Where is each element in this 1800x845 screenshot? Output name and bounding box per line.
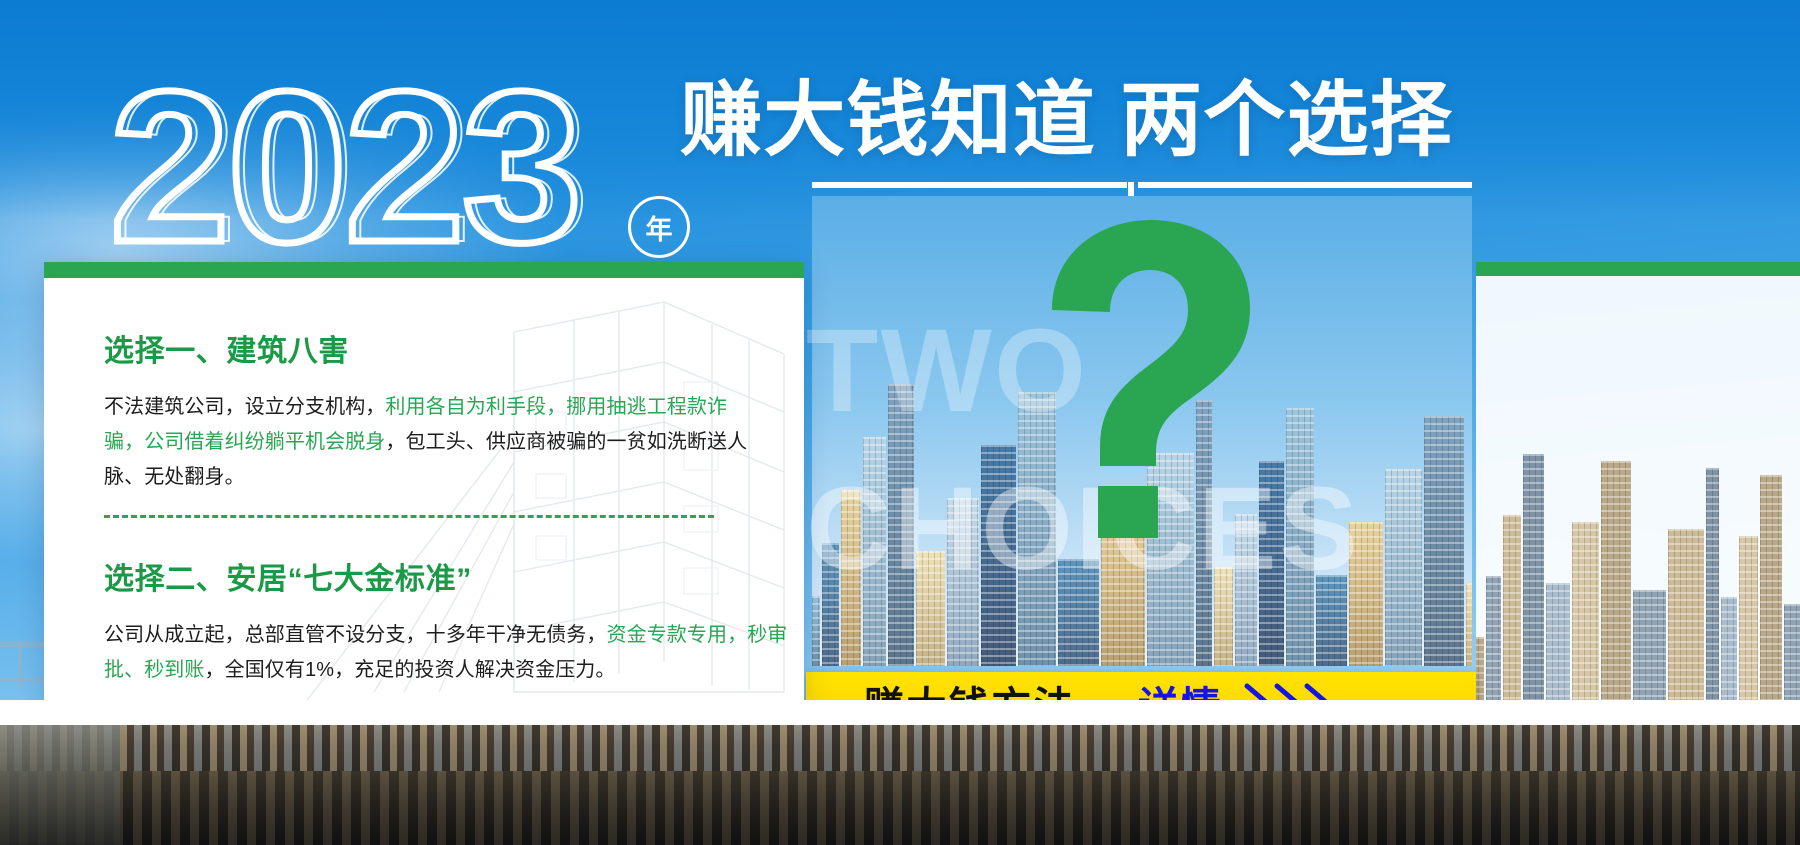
title-rule-left (812, 182, 1127, 188)
building (812, 596, 820, 666)
building (1466, 583, 1472, 666)
section-2-heading: 选择二、安居“七大金标准” (104, 554, 794, 598)
section-2-text-c: ，全国仅有1%，充足的投资人解决资金压力。 (205, 659, 616, 681)
card-top-accent (44, 262, 804, 278)
content-card: 选择一、建筑八害 不法建筑公司，设立分支机构，利用各自为利手段，挪用抽逃工程款诈… (44, 262, 804, 717)
section-1-body: 不法建筑公司，设立分支机构，利用各自为利手段，挪用抽逃工程款诈骗，公司借着纠纷躺… (104, 390, 762, 495)
right-panel-skyline (1476, 436, 1800, 717)
building (1523, 454, 1544, 717)
building (1760, 475, 1782, 717)
bottom-city-strip (0, 725, 1800, 845)
building (1572, 522, 1599, 717)
building (1668, 529, 1704, 717)
building (1601, 461, 1631, 717)
year-number-outline-thin: 2023 (118, 62, 698, 272)
building (1385, 469, 1422, 666)
building (1706, 468, 1719, 717)
page-title: 赚大钱知道 两个选择 (680, 78, 1453, 164)
right-accent-bar (1476, 262, 1800, 276)
building (1633, 590, 1666, 717)
year-badge: 年 (628, 196, 690, 258)
question-mark-icon (1030, 214, 1260, 544)
section-1-text-a: 不法建筑公司，设立分支机构， (104, 396, 385, 418)
section-1-heading: 选择一、建筑八害 (104, 326, 762, 370)
section-2-text-a: 公司从成立起，总部直管不设分支，十多年干净无债务， (104, 624, 607, 646)
card-base-white-strip (0, 700, 1800, 726)
building (1486, 576, 1501, 717)
bottom-water-reflection (0, 771, 1800, 845)
section-2-body: 公司从成立起，总部直管不设分支，十多年干净无债务，资金专款专用，秒审批、秒到账，… (104, 618, 794, 688)
building (1424, 416, 1464, 666)
right-white-panel (1476, 276, 1800, 717)
building (1546, 583, 1570, 717)
building (1739, 536, 1758, 717)
card-section-2: 选择二、安居“七大金标准” 公司从成立起，总部直管不设分支，十多年干净无债务，资… (104, 554, 794, 688)
building (1721, 597, 1737, 717)
bottom-city-row (0, 725, 1800, 771)
section-divider (104, 515, 714, 518)
building (1503, 515, 1521, 717)
card-section-1: 选择一、建筑八害 不法建筑公司，设立分支机构，利用各自为利手段，挪用抽逃工程款诈… (104, 326, 762, 495)
bottom-left-rail (0, 725, 120, 845)
banner-stage: 2023 2023 年 赚大钱知道 两个选择 TWO CHOICES 赚大钱方法… (0, 0, 1800, 845)
title-rule-right (1138, 182, 1472, 188)
